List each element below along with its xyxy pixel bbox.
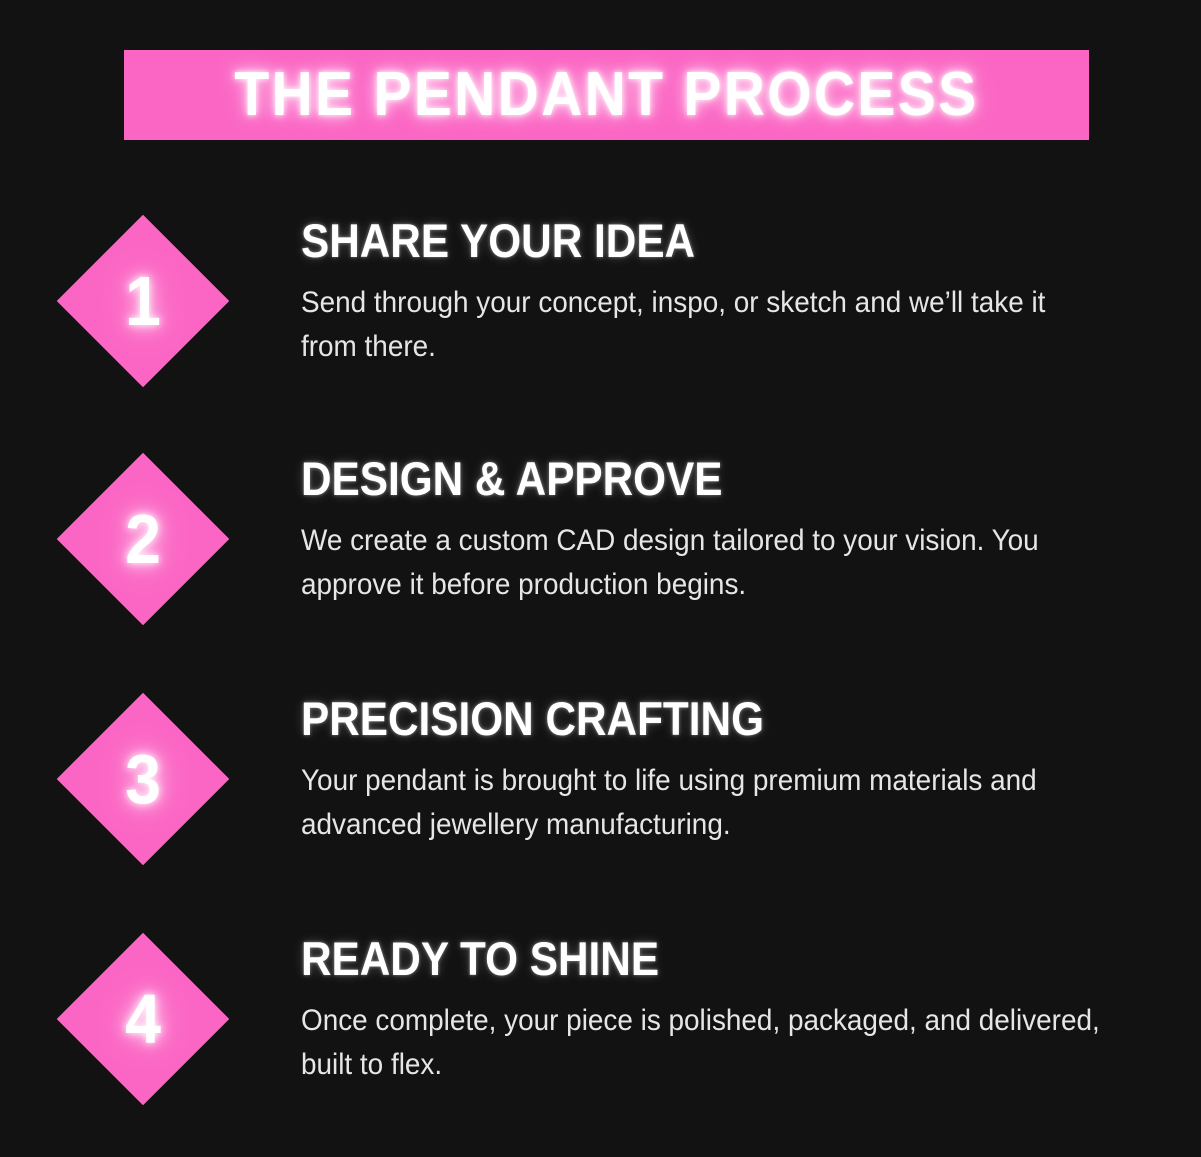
step-heading: SHARE YOUR IDEA bbox=[301, 215, 1075, 267]
step-heading: DESIGN & APPROVE bbox=[301, 453, 1075, 505]
step-number: 2 bbox=[64, 453, 222, 625]
step-number-badge: 1 bbox=[57, 215, 229, 387]
step-content: PRECISION CRAFTING Your pendant is broug… bbox=[301, 693, 1161, 847]
step-number-badge: 4 bbox=[57, 933, 229, 1105]
step-number: 3 bbox=[64, 693, 222, 865]
step-content: DESIGN & APPROVE We create a custom CAD … bbox=[301, 453, 1161, 607]
step-description: Once complete, your piece is polished, p… bbox=[301, 999, 1101, 1087]
process-step-list: 1 SHARE YOUR IDEA Send through your conc… bbox=[0, 0, 1201, 1157]
step-number-badge: 3 bbox=[57, 693, 229, 865]
step-number-badge: 2 bbox=[57, 453, 229, 625]
step-number: 1 bbox=[64, 215, 222, 387]
step-description: Send through your concept, inspo, or ske… bbox=[301, 281, 1101, 369]
step-content: SHARE YOUR IDEA Send through your concep… bbox=[301, 215, 1161, 369]
step-heading: READY TO SHINE bbox=[301, 933, 1075, 985]
step-description: Your pendant is brought to life using pr… bbox=[301, 759, 1101, 847]
step-heading: PRECISION CRAFTING bbox=[301, 693, 1075, 745]
infographic-page: THE PENDANT PROCESS 1 SHARE YOUR IDEA Se… bbox=[0, 0, 1201, 1157]
step-content: READY TO SHINE Once complete, your piece… bbox=[301, 933, 1161, 1087]
step-description: We create a custom CAD design tailored t… bbox=[301, 519, 1101, 607]
step-number: 4 bbox=[64, 933, 222, 1105]
